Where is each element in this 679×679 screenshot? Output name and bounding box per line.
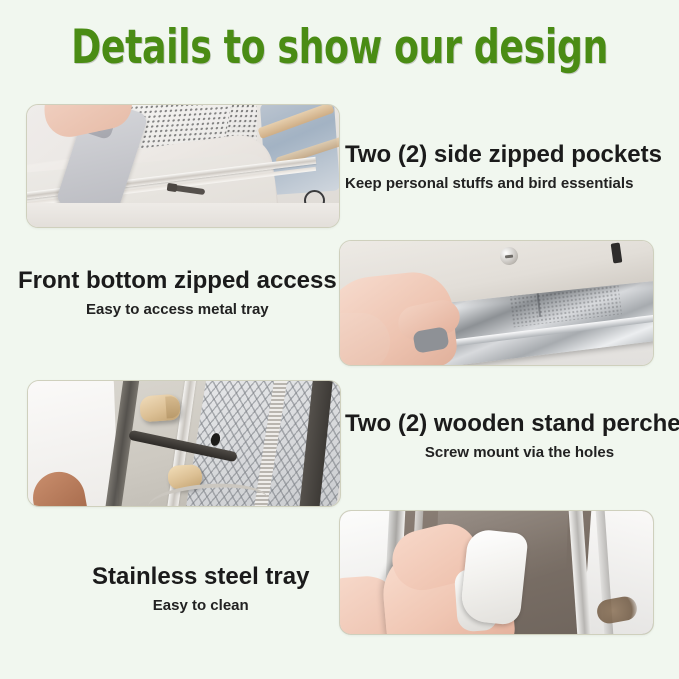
feature-subtext: Screw mount via the holes bbox=[345, 442, 679, 464]
feature-headline: Stainless steel tray bbox=[92, 562, 309, 592]
photo-front-bottom-zipped-access bbox=[340, 241, 653, 365]
feature-headline: Front bottom zipped access bbox=[18, 266, 337, 296]
feature-subtext: Keep personal stuffs and bird essentials bbox=[345, 173, 662, 195]
feature-text-stainless-steel-tray: Stainless steel tray Easy to clean bbox=[92, 562, 309, 617]
feature-headline: Two (2) wooden stand perches bbox=[345, 409, 679, 439]
feature-subtext: Easy to access metal tray bbox=[18, 299, 337, 321]
feature-image-stainless-steel-tray bbox=[339, 510, 654, 635]
feature-text-side-zipped-pockets: Two (2) side zipped pockets Keep persona… bbox=[345, 140, 662, 195]
photo-wooden-stand-perches bbox=[28, 381, 340, 506]
wooden-perch-icon bbox=[139, 394, 181, 423]
cleaning-cloth-icon bbox=[459, 528, 528, 626]
photo-stainless-steel-tray bbox=[340, 511, 653, 634]
feature-headline: Two (2) side zipped pockets bbox=[345, 140, 662, 170]
infographic-page: Details to show our design bbox=[0, 0, 679, 679]
photo-side-zipped-pockets bbox=[27, 105, 339, 227]
feature-image-side-zipped-pockets bbox=[26, 104, 340, 228]
page-title: Details to show our design bbox=[48, 22, 632, 74]
feature-text-wooden-stand-perches: Two (2) wooden stand perches Screw mount… bbox=[345, 409, 679, 464]
feature-image-wooden-stand-perches bbox=[27, 380, 341, 507]
feature-image-front-bottom-zipped-access bbox=[339, 240, 654, 366]
feature-subtext: Easy to clean bbox=[92, 595, 309, 617]
carrier-bottom-edge bbox=[27, 203, 339, 227]
feature-text-front-bottom-zipped-access: Front bottom zipped access Easy to acces… bbox=[18, 266, 337, 321]
